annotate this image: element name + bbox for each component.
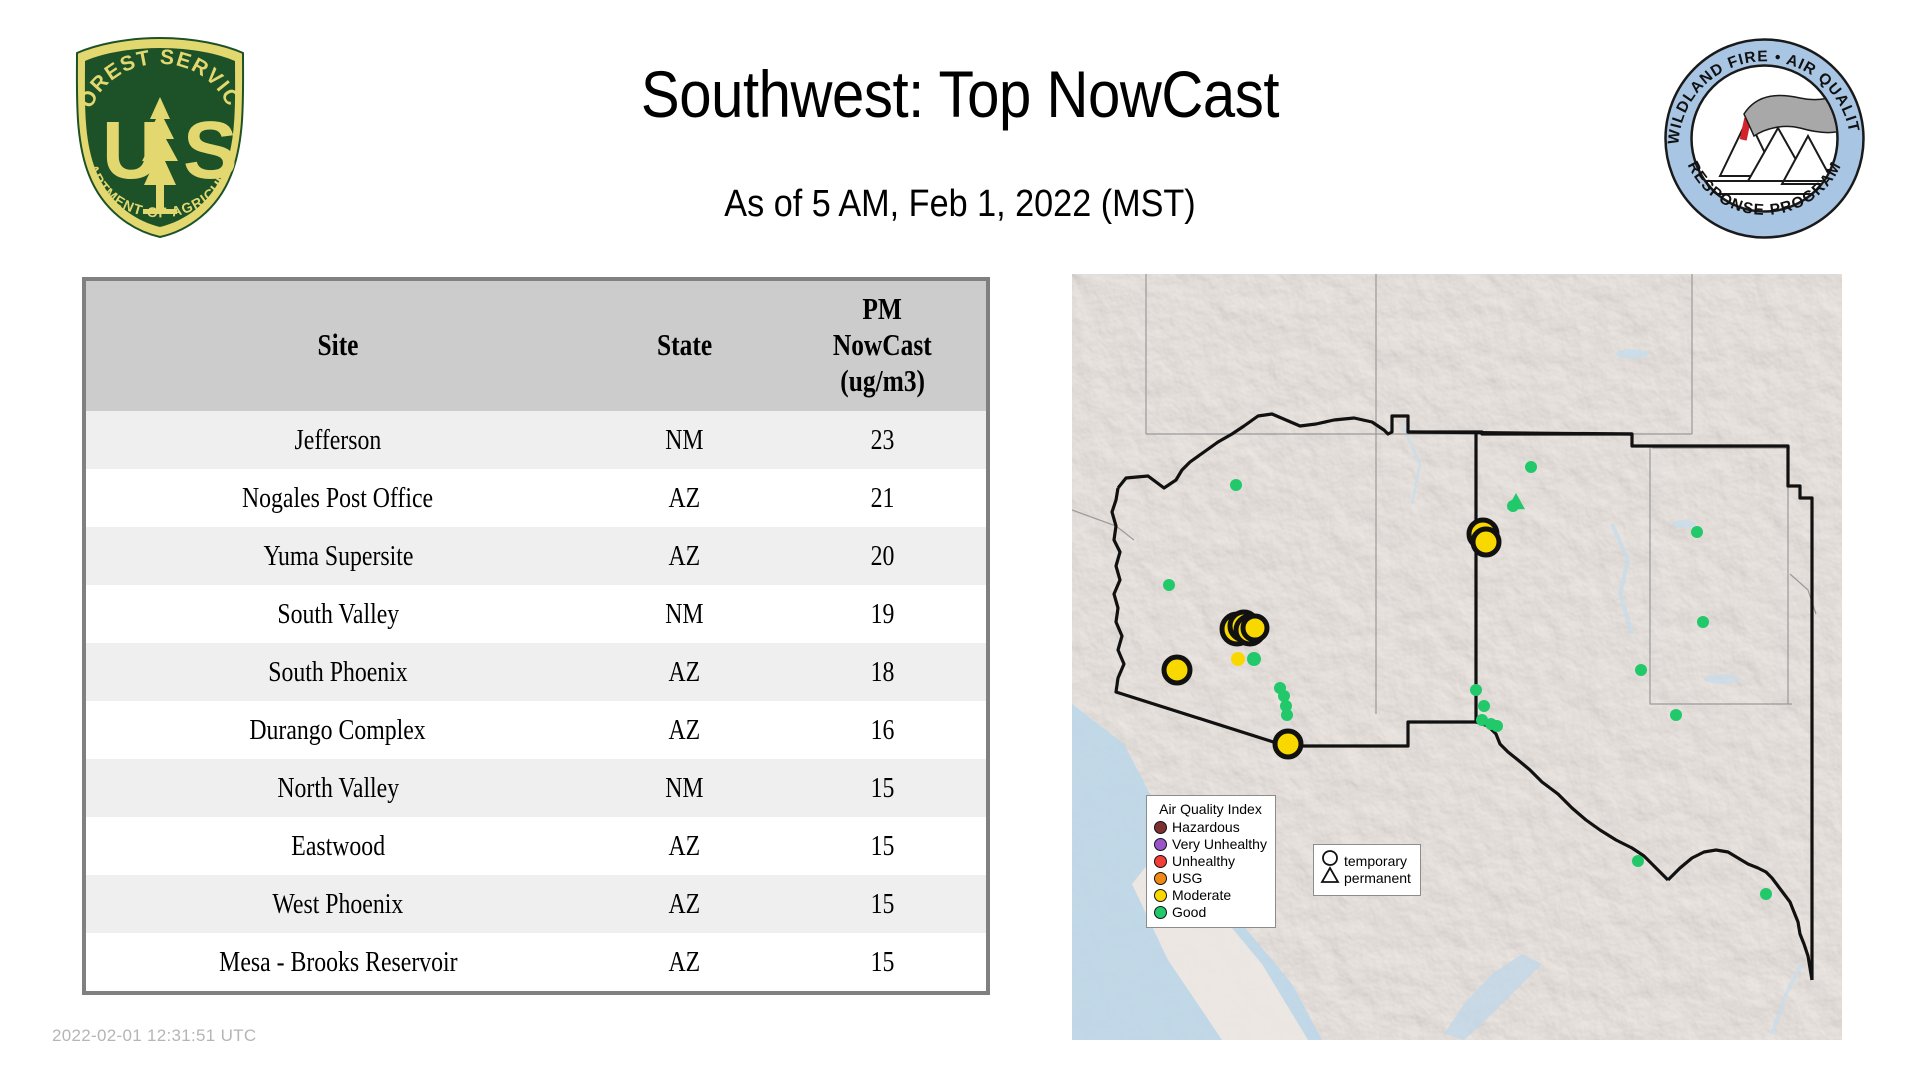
column-header-state-label: State — [657, 327, 712, 363]
column-header-pm-line2: NowCast — [833, 327, 932, 363]
monitor-marker[interactable] — [1697, 616, 1709, 628]
table-cell-state: AZ — [590, 701, 779, 759]
monitor-marker[interactable] — [1691, 526, 1703, 538]
table-cell-site: West Phoenix — [86, 875, 590, 933]
table-row: North ValleyNM15 — [86, 759, 986, 817]
table-cell-site-text: South Valley — [277, 597, 399, 631]
aqi-legend-label: Good — [1172, 905, 1206, 920]
aqi-legend-row: Unhealthy — [1154, 853, 1267, 870]
table-cell-value: 15 — [779, 875, 986, 933]
table-cell-state-text: AZ — [669, 945, 701, 979]
wfaqrp-logo: WILDLAND FIRE • AIR QUALITY RESPONSE PRO… — [1662, 36, 1867, 241]
aqi-swatch-icon — [1154, 838, 1167, 851]
monitor-marker[interactable] — [1470, 684, 1482, 696]
monitor-marker[interactable] — [1247, 652, 1261, 666]
aqi-swatch-icon — [1154, 872, 1167, 885]
table-cell-site: South Valley — [86, 585, 590, 643]
aqi-legend-title: Air Quality Index — [1154, 801, 1267, 817]
monitor-type-labels: temporary permanent — [1344, 853, 1411, 887]
table-cell-value: 15 — [779, 759, 986, 817]
monitor-marker[interactable] — [1632, 855, 1644, 867]
aqi-legend-row: Hazardous — [1154, 819, 1267, 836]
table-cell-state-text: NM — [665, 423, 703, 457]
table-cell-site-text: North Valley — [277, 771, 399, 805]
permanent-triangle-icon — [1322, 868, 1338, 882]
table-cell-value: 19 — [779, 585, 986, 643]
table-cell-value-text: 20 — [871, 539, 895, 573]
table-cell-value: 20 — [779, 527, 986, 585]
table-cell-site-text: Eastwood — [291, 829, 385, 863]
monitor-marker[interactable] — [1275, 731, 1301, 757]
table-cell-site: Jefferson — [86, 411, 590, 469]
table-cell-state: AZ — [590, 527, 779, 585]
table-cell-state-text: AZ — [669, 829, 701, 863]
table-cell-state: AZ — [590, 933, 779, 991]
table-cell-state: AZ — [590, 817, 779, 875]
table-header: Site State PM NowCast (ug/m3) — [86, 281, 986, 411]
aqi-legend-row: USG — [1154, 870, 1267, 887]
table-cell-site: Durango Complex — [86, 701, 590, 759]
table-cell-value-text: 19 — [871, 597, 895, 631]
column-header-pm-nowcast: PM NowCast (ug/m3) — [779, 281, 986, 411]
column-header-site-label: Site — [318, 327, 359, 363]
table-cell-value-text: 23 — [871, 423, 895, 457]
table-row: EastwoodAZ15 — [86, 817, 986, 875]
monitor-marker[interactable] — [1278, 690, 1290, 702]
monitor-marker[interactable] — [1760, 888, 1772, 900]
aqi-legend: Air Quality Index HazardousVery Unhealth… — [1146, 795, 1276, 928]
page-header: FOREST SERVICE U S DEPARTMENT OF AGRICUL… — [0, 0, 1920, 268]
forest-service-logo: FOREST SERVICE U S DEPARTMENT OF AGRICUL… — [55, 35, 265, 240]
monitor-marker[interactable] — [1473, 529, 1499, 555]
monitor-marker[interactable] — [1478, 700, 1490, 712]
table-cell-site: South Phoenix — [86, 643, 590, 701]
monitor-type-glyphs — [1320, 849, 1340, 890]
table-cell-state: NM — [590, 585, 779, 643]
table-cell-site-text: Jefferson — [295, 423, 382, 457]
table-cell-state-text: AZ — [669, 481, 701, 515]
page-title: Southwest: Top NowCast — [344, 56, 1576, 132]
aqi-swatch-icon — [1154, 855, 1167, 868]
table-row: Durango ComplexAZ16 — [86, 701, 986, 759]
monitor-marker[interactable] — [1670, 709, 1682, 721]
table-row: South ValleyNM19 — [86, 585, 986, 643]
table-cell-state: AZ — [590, 875, 779, 933]
table-cell-site-text: South Phoenix — [268, 655, 407, 689]
temporary-circle-icon — [1323, 851, 1337, 865]
aqi-legend-row: Good — [1154, 904, 1267, 921]
legend-label-temporary: temporary — [1344, 853, 1411, 870]
table-cell-site: Mesa - Brooks Reservoir — [86, 933, 590, 991]
column-header-pm-line3: (ug/m3) — [840, 363, 925, 399]
monitor-marker[interactable] — [1231, 652, 1245, 666]
table-cell-state-text: AZ — [669, 655, 701, 689]
table-cell-state: AZ — [590, 643, 779, 701]
table-cell-value: 15 — [779, 817, 986, 875]
monitor-type-legend: temporary permanent — [1313, 844, 1421, 896]
table-cell-site-text: Mesa - Brooks Reservoir — [219, 945, 457, 979]
monitor-marker[interactable] — [1163, 579, 1175, 591]
table-cell-state-text: AZ — [669, 713, 701, 747]
aqi-swatch-icon — [1154, 889, 1167, 902]
aqi-legend-label: Unhealthy — [1172, 854, 1235, 869]
aqi-legend-label: Moderate — [1172, 888, 1231, 903]
table-cell-site-text: Nogales Post Office — [242, 481, 433, 515]
table-row: South PhoenixAZ18 — [86, 643, 986, 701]
column-header-site: Site — [86, 281, 590, 411]
aqi-legend-row: Very Unhealthy — [1154, 836, 1267, 853]
table-cell-value-text: 21 — [871, 481, 895, 515]
table-cell-value: 15 — [779, 933, 986, 991]
monitor-marker[interactable] — [1164, 657, 1190, 683]
table-row: Yuma SupersiteAZ20 — [86, 527, 986, 585]
table-row: JeffersonNM23 — [86, 411, 986, 469]
table-cell-site: Nogales Post Office — [86, 469, 590, 527]
column-header-state: State — [590, 281, 779, 411]
table-cell-site: Eastwood — [86, 817, 590, 875]
table-header-row: Site State PM NowCast (ug/m3) — [86, 281, 986, 411]
monitor-marker[interactable] — [1491, 720, 1503, 732]
aqi-legend-label: USG — [1172, 871, 1202, 886]
table-cell-site-text: West Phoenix — [273, 887, 404, 921]
table-cell-value-text: 15 — [871, 887, 895, 921]
table-cell-state: AZ — [590, 469, 779, 527]
monitor-marker[interactable] — [1281, 709, 1293, 721]
aqi-legend-label: Very Unhealthy — [1172, 837, 1267, 852]
table-row: Mesa - Brooks ReservoirAZ15 — [86, 933, 986, 991]
table-body: JeffersonNM23Nogales Post OfficeAZ21Yuma… — [86, 411, 986, 991]
table-row: West PhoenixAZ15 — [86, 875, 986, 933]
table-cell-value: 23 — [779, 411, 986, 469]
table-cell-value: 16 — [779, 701, 986, 759]
nowcast-table: Site State PM NowCast (ug/m3) JeffersonN… — [86, 281, 986, 991]
table-cell-state-text: NM — [665, 597, 703, 631]
page-subtitle: As of 5 AM, Feb 1, 2022 (MST) — [330, 182, 1590, 226]
aqi-swatch-icon — [1154, 906, 1167, 919]
table-cell-state: NM — [590, 759, 779, 817]
table-cell-site: North Valley — [86, 759, 590, 817]
table-cell-value-text: 18 — [871, 655, 895, 689]
legend-label-permanent: permanent — [1344, 870, 1411, 887]
monitor-marker[interactable] — [1230, 479, 1242, 491]
table-cell-value-text: 15 — [871, 829, 895, 863]
table-cell-site-text: Durango Complex — [250, 713, 426, 747]
monitor-marker[interactable] — [1243, 616, 1267, 640]
table-cell-value: 21 — [779, 469, 986, 527]
aqi-legend-label: Hazardous — [1172, 820, 1240, 835]
table-cell-value-text: 15 — [871, 945, 895, 979]
table-row: Nogales Post OfficeAZ21 — [86, 469, 986, 527]
aqi-legend-row: Moderate — [1154, 887, 1267, 904]
monitor-marker[interactable] — [1525, 461, 1537, 473]
table-cell-value-text: 16 — [871, 713, 895, 747]
aqi-swatch-icon — [1154, 821, 1167, 834]
monitor-marker[interactable] — [1635, 664, 1647, 676]
table-cell-state-text: AZ — [669, 539, 701, 573]
nowcast-table-container: Site State PM NowCast (ug/m3) JeffersonN… — [82, 277, 990, 995]
table-cell-value-text: 15 — [871, 771, 895, 805]
table-cell-state-text: AZ — [669, 887, 701, 921]
column-header-pm-line1: PM — [863, 291, 903, 327]
table-cell-value: 18 — [779, 643, 986, 701]
footer-timestamp: 2022-02-01 12:31:51 UTC — [52, 1026, 256, 1046]
table-cell-state-text: NM — [665, 771, 703, 805]
table-cell-state: NM — [590, 411, 779, 469]
table-cell-site: Yuma Supersite — [86, 527, 590, 585]
table-cell-site-text: Yuma Supersite — [263, 539, 413, 573]
